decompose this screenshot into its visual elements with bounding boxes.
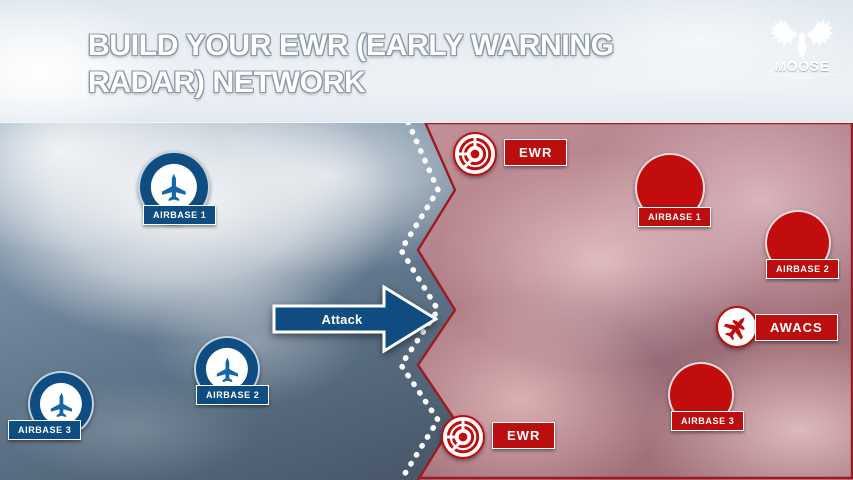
radar-target-icon [453, 132, 497, 176]
awacs-plane-icon [716, 306, 758, 348]
marker-red-airbase-1[interactable]: AIRBASE 1 [635, 153, 705, 223]
fighter-jet-icon [206, 348, 248, 390]
fighter-jet-icon [40, 383, 82, 425]
marker-label: AIRBASE 1 [638, 207, 711, 227]
marker-blue-airbase-1[interactable]: AIRBASE 1 [138, 151, 210, 223]
moose-logo: MOOSE MISSION OBJECT ORIENTED SCRIPTING … [765, 14, 839, 88]
marker-label: AIRBASE 1 [143, 205, 216, 225]
fighter-jet-icon [151, 164, 197, 210]
header-band: BUILD YOUR EWR (EARLY WARNING RADAR) NET… [0, 0, 853, 123]
marker-blue-airbase-2[interactable]: AIRBASE 2 [194, 336, 260, 402]
marker-red-airbase-3[interactable]: AIRBASE 3 [668, 362, 734, 428]
marker-label: AIRBASE 2 [196, 385, 269, 405]
slide-canvas: BUILD YOUR EWR (EARLY WARNING RADAR) NET… [0, 0, 853, 480]
marker-label: EWR [492, 422, 555, 449]
attack-arrow-label: Attack [272, 284, 412, 354]
marker-awacs[interactable]: AWACS [716, 306, 758, 348]
radar-target-icon [441, 415, 485, 459]
moose-logo-subtitle: MISSION OBJECT ORIENTED SCRIPTING ENVIRO… [765, 74, 839, 80]
marker-label: EWR [504, 139, 567, 166]
moose-antlers-icon [771, 14, 833, 58]
page-title: BUILD YOUR EWR (EARLY WARNING RADAR) NET… [88, 28, 708, 101]
marker-label: AWACS [755, 314, 838, 341]
moose-logo-wordmark: MOOSE [765, 59, 839, 73]
marker-label: AIRBASE 3 [8, 420, 81, 440]
marker-ewr-south[interactable]: EWR [441, 415, 485, 459]
marker-red-airbase-2[interactable]: AIRBASE 2 [765, 210, 831, 276]
marker-ewr-north[interactable]: EWR [453, 132, 497, 176]
marker-label: AIRBASE 3 [671, 411, 744, 431]
marker-blue-airbase-3[interactable]: AIRBASE 3 [28, 371, 94, 437]
marker-label: AIRBASE 2 [766, 259, 839, 279]
